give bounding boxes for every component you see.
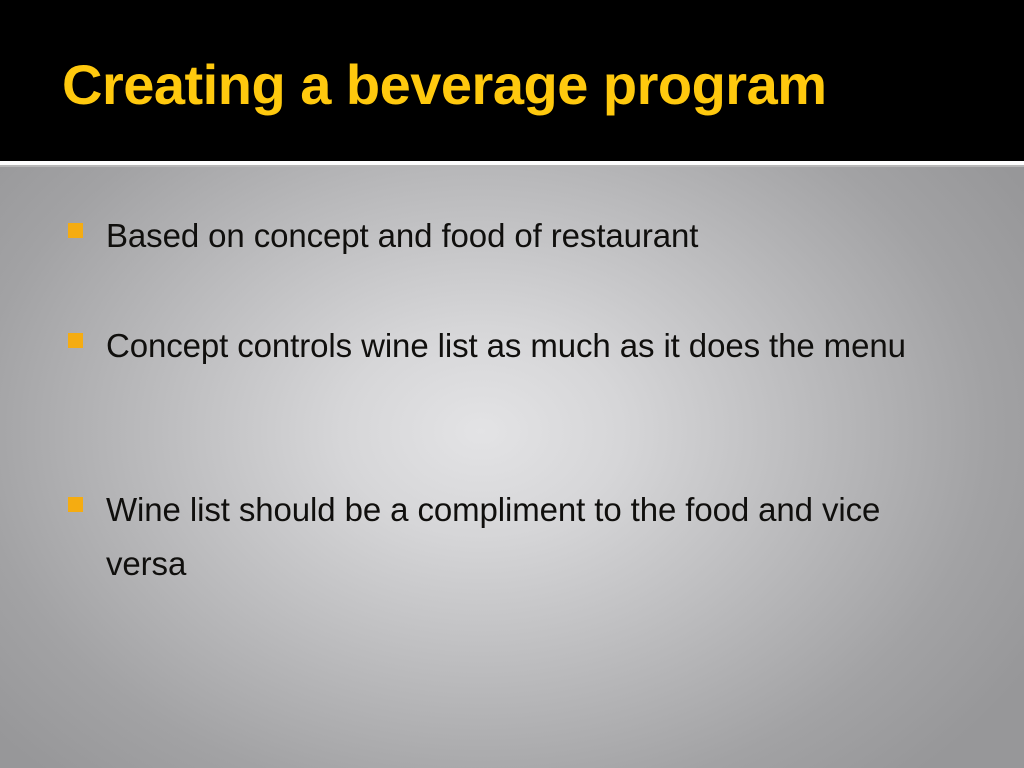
slide-title: Creating a beverage program (62, 54, 827, 116)
list-item: Wine list should be a compliment to the … (68, 483, 968, 591)
square-bullet-icon (68, 497, 83, 512)
bullet-text: Concept controls wine list as much as it… (106, 319, 968, 373)
list-item: Based on concept and food of restaurant (68, 209, 968, 263)
bullet-text: Based on concept and food of restaurant (106, 209, 968, 263)
bullet-text: Wine list should be a compliment to the … (106, 483, 968, 591)
slide-body: Based on concept and food of restaurant … (0, 167, 1024, 768)
list-item: Concept controls wine list as much as it… (68, 319, 968, 373)
square-bullet-icon (68, 223, 83, 238)
title-band: Creating a beverage program (0, 0, 1024, 161)
presentation-slide: Creating a beverage program Based on con… (0, 0, 1024, 768)
square-bullet-icon (68, 333, 83, 348)
